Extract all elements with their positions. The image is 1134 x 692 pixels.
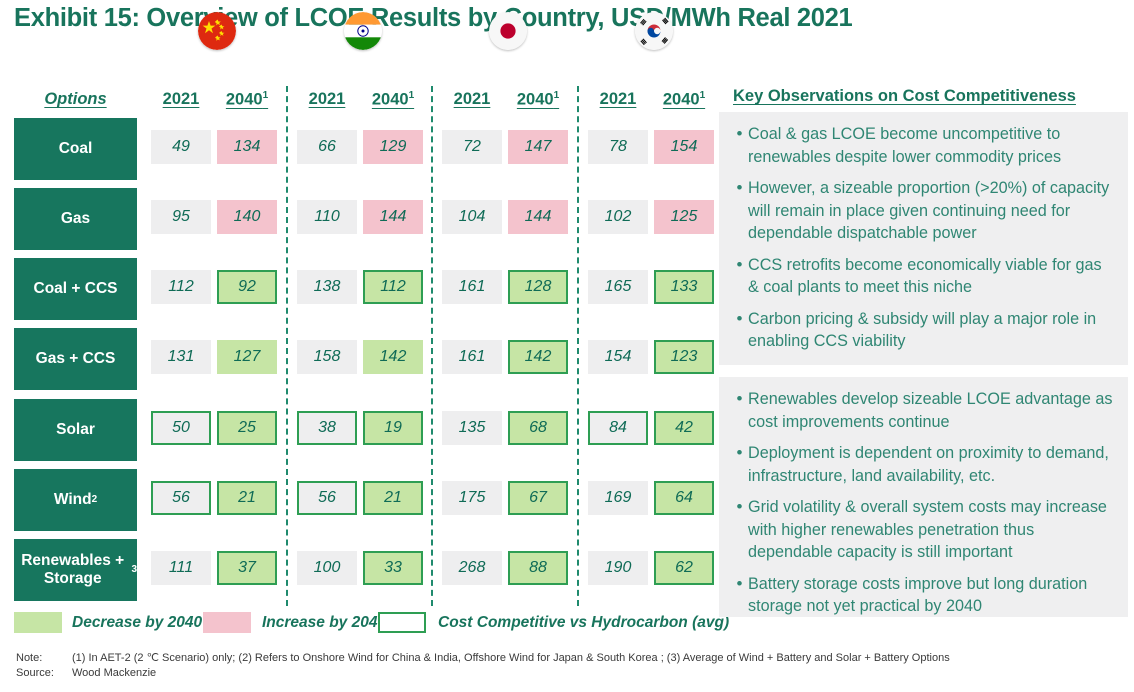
value-cell[interactable]: 37 (217, 551, 277, 585)
legend-label: Cost Competitive vs Hydrocarbon (avg) (438, 612, 729, 633)
country-group-divider-3 (577, 86, 579, 606)
observation-cost-bullet-text: However, a sizeable proportion (>20%) of… (748, 177, 1116, 245)
column-header-japan-2021[interactable]: 2021 (440, 90, 504, 109)
row-label-text: Coal (59, 140, 93, 158)
value-cell[interactable]: 49 (151, 130, 211, 164)
value-cell[interactable]: 123 (654, 340, 714, 374)
footnote-marker: 1 (700, 90, 706, 101)
value-cell[interactable]: 133 (654, 270, 714, 304)
value-cell[interactable]: 67 (508, 481, 568, 515)
value-cell[interactable]: 84 (588, 411, 648, 445)
value-cell[interactable]: 112 (151, 270, 211, 304)
column-header-china-2021[interactable]: 2021 (149, 90, 213, 109)
bullet-dot-icon: • (731, 177, 748, 200)
column-header-row: Options 20212040120212040120212040120212… (0, 90, 716, 114)
observations-panel-cost: •Coal & gas LCOE become uncompetitive to… (719, 112, 1128, 365)
value-cell[interactable]: 72 (442, 130, 502, 164)
flag-japan-icon (489, 12, 527, 50)
footnote-note-row: Note: (1) In AET-2 (2 ℃ Scenario) only; … (16, 651, 1126, 666)
lcoe-table: Options 20212040120212040120212040120212… (0, 50, 716, 615)
bullet-dot-icon: • (731, 573, 748, 596)
value-cell[interactable]: 131 (151, 340, 211, 374)
column-header-south-korea-2021[interactable]: 2021 (586, 90, 650, 109)
column-header-japan-2040[interactable]: 20401 (506, 90, 570, 110)
value-cell[interactable]: 50 (151, 411, 211, 445)
value-cell[interactable]: 104 (442, 200, 502, 234)
row-label-wind[interactable]: Wind2 (14, 469, 137, 531)
value-cell[interactable]: 142 (508, 340, 568, 374)
footnote-marker: 3 (131, 564, 137, 576)
footnote-source-label: Source: (16, 666, 72, 681)
value-cell[interactable]: 33 (363, 551, 423, 585)
value-cell[interactable]: 129 (363, 130, 423, 164)
column-header-china-2040[interactable]: 20401 (215, 90, 279, 110)
footnote-marker: 1 (263, 90, 269, 101)
value-cell[interactable]: 21 (217, 481, 277, 515)
country-group-divider-1 (286, 86, 288, 606)
value-cell[interactable]: 144 (508, 200, 568, 234)
value-cell[interactable]: 100 (297, 551, 357, 585)
value-cell[interactable]: 111 (151, 551, 211, 585)
bullet-dot-icon: • (731, 388, 748, 411)
value-cell[interactable]: 144 (363, 200, 423, 234)
observation-renewables-bullet-text: Grid volatility & overall system costs m… (748, 496, 1116, 564)
observations-heading: Key Observations on Cost Competitiveness (733, 87, 1076, 106)
value-cell[interactable]: 158 (297, 340, 357, 374)
observation-cost-bullet: •Carbon pricing & subsidy will play a ma… (731, 308, 1116, 353)
value-cell[interactable]: 56 (151, 481, 211, 515)
footnote: Note: (1) In AET-2 (2 ℃ Scenario) only; … (16, 651, 1126, 681)
value-cell[interactable]: 154 (588, 340, 648, 374)
footnote-note-text: (1) In AET-2 (2 ℃ Scenario) only; (2) Re… (72, 651, 1126, 666)
flag-china-icon (198, 12, 236, 50)
value-cell[interactable]: 175 (442, 481, 502, 515)
value-cell[interactable]: 95 (151, 200, 211, 234)
value-cell[interactable]: 92 (217, 270, 277, 304)
value-cell[interactable]: 78 (588, 130, 648, 164)
value-cell[interactable]: 66 (297, 130, 357, 164)
value-cell[interactable]: 165 (588, 270, 648, 304)
observation-cost-bullet: •However, a sizeable proportion (>20%) o… (731, 177, 1116, 245)
column-header-india-2040[interactable]: 20401 (361, 90, 425, 110)
value-cell[interactable]: 64 (654, 481, 714, 515)
options-column-header: Options (14, 90, 137, 109)
value-cell[interactable]: 125 (654, 200, 714, 234)
row-label-gas[interactable]: Gas (14, 188, 137, 250)
observation-cost-bullet-text: CCS retrofits become economically viable… (748, 254, 1116, 299)
observation-renewables-bullet: •Deployment is dependent on proximity to… (731, 442, 1116, 487)
observations-panel-renewables: •Renewables develop sizeable LCOE advant… (719, 377, 1128, 617)
value-cell[interactable]: 38 (297, 411, 357, 445)
value-cell[interactable]: 190 (588, 551, 648, 585)
observation-cost-bullet: •Coal & gas LCOE become uncompetitive to… (731, 123, 1116, 168)
footnote-marker: 1 (409, 90, 415, 101)
observation-renewables-bullet: •Grid volatility & overall system costs … (731, 496, 1116, 564)
legend: Decrease by 2040Increase by 2040Cost Com… (0, 608, 716, 638)
value-cell[interactable]: 102 (588, 200, 648, 234)
row-label-text: Coal + CCS (34, 280, 118, 298)
value-cell[interactable]: 112 (363, 270, 423, 304)
footnote-marker: 1 (554, 90, 560, 101)
value-cell[interactable]: 161 (442, 340, 502, 374)
value-cell[interactable]: 56 (297, 481, 357, 515)
flag-india-icon (344, 12, 382, 50)
page-title: Exhibit 15: Overview of LCOE Results by … (14, 4, 852, 33)
value-cell[interactable]: 62 (654, 551, 714, 585)
observation-cost-bullet-text: Carbon pricing & subsidy will play a maj… (748, 308, 1116, 353)
row-label-coal[interactable]: Coal (14, 118, 137, 180)
row-label-renewables-storage[interactable]: Renewables + Storage3 (14, 539, 137, 601)
value-cell[interactable]: 154 (654, 130, 714, 164)
bullet-dot-icon: • (731, 254, 748, 277)
observation-renewables-bullet: •Renewables develop sizeable LCOE advant… (731, 388, 1116, 433)
footnote-note-label: Note: (16, 651, 72, 666)
value-cell[interactable]: 68 (508, 411, 568, 445)
value-cell[interactable]: 128 (508, 270, 568, 304)
column-header-india-2021[interactable]: 2021 (295, 90, 359, 109)
row-label-coal-ccs[interactable]: Coal + CCS (14, 258, 137, 320)
value-cell[interactable]: 21 (363, 481, 423, 515)
footnote-source-row: Source: Wood Mackenzie (16, 666, 1126, 681)
row-label-text: Wind (54, 491, 92, 509)
column-header-south-korea-2040[interactable]: 20401 (652, 90, 716, 110)
value-cell[interactable]: 19 (363, 411, 423, 445)
bullet-dot-icon: • (731, 123, 748, 146)
value-cell[interactable]: 134 (217, 130, 277, 164)
row-label-text: Solar (56, 421, 95, 439)
bullet-dot-icon: • (731, 442, 748, 465)
observation-renewables-bullet-text: Renewables develop sizeable LCOE advanta… (748, 388, 1116, 433)
value-cell[interactable]: 110 (297, 200, 357, 234)
row-label-text: Gas (61, 210, 90, 228)
observation-renewables-bullet: •Battery storage costs improve but long … (731, 573, 1116, 618)
value-cell[interactable]: 25 (217, 411, 277, 445)
row-label-text: Renewables + Storage (14, 552, 131, 588)
bullet-dot-icon: • (731, 496, 748, 519)
footnote-marker: 2 (92, 494, 98, 506)
value-cell[interactable]: 127 (217, 340, 277, 374)
value-cell[interactable]: 88 (508, 551, 568, 585)
flag-south-korea-icon (635, 12, 673, 50)
bullet-dot-icon: • (731, 308, 748, 331)
legend-swatch-pink (203, 612, 251, 633)
footnote-source-text: Wood Mackenzie (72, 666, 1126, 681)
value-cell[interactable]: 142 (363, 340, 423, 374)
value-cell[interactable]: 42 (654, 411, 714, 445)
exhibit-root: Exhibit 15: Overview of LCOE Results by … (0, 0, 1134, 692)
value-cell[interactable]: 268 (442, 551, 502, 585)
legend-label: Decrease by 2040 (72, 612, 202, 633)
legend-swatch-outline (378, 612, 426, 633)
value-cell[interactable]: 147 (508, 130, 568, 164)
observation-cost-bullet-text: Coal & gas LCOE become uncompetitive to … (748, 123, 1116, 168)
legend-label: Increase by 2040 (262, 612, 386, 633)
row-label-text: Gas + CCS (36, 350, 116, 368)
row-label-solar[interactable]: Solar (14, 399, 137, 461)
observation-renewables-bullet-text: Battery storage costs improve but long d… (748, 573, 1116, 618)
legend-swatch-green (14, 612, 62, 633)
row-label-gas-ccs[interactable]: Gas + CCS (14, 328, 137, 390)
value-cell[interactable]: 169 (588, 481, 648, 515)
value-cell[interactable]: 138 (297, 270, 357, 304)
observation-cost-bullet: •CCS retrofits become economically viabl… (731, 254, 1116, 299)
value-cell[interactable]: 161 (442, 270, 502, 304)
value-cell[interactable]: 140 (217, 200, 277, 234)
observation-renewables-bullet-text: Deployment is dependent on proximity to … (748, 442, 1116, 487)
value-cell[interactable]: 135 (442, 411, 502, 445)
country-group-divider-2 (431, 86, 433, 606)
